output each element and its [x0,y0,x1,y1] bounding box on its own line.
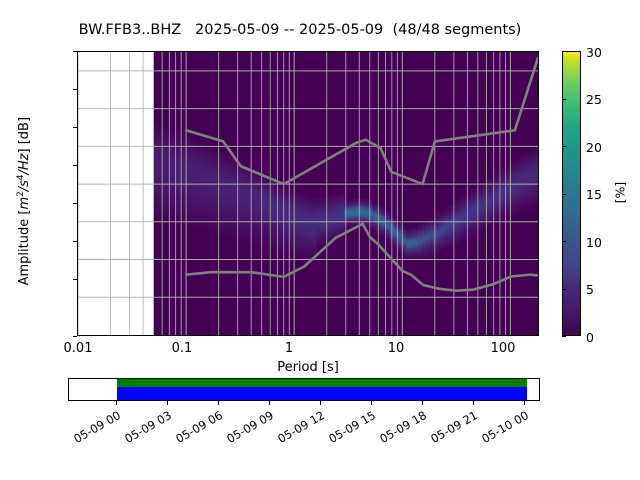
colorbar-tick-label: 5 [586,282,594,297]
timeline-tick-label: 05-09 12 [266,408,327,451]
timeline-tick-mark [422,401,423,405]
x-tick-label: 100 [473,341,533,356]
colorbar-tick-label: 30 [586,45,602,60]
data-coverage-timeline[interactable] [68,378,540,401]
y-tick-mark [73,336,77,337]
timeline-tick-mark [269,401,270,405]
colorbar-tick-label: 10 [586,235,602,250]
ppsd-plot-area[interactable] [77,51,539,336]
colorbar-tick-mark [562,289,566,290]
x-tick-label: 0.01 [48,341,108,356]
timeline-tick-label: 05-09 09 [215,408,276,451]
timeline-tick-mark [320,401,321,405]
timeline-data-bar [117,379,527,387]
ppsd-figure: { "chart_data": { "type": "heatmap", "ti… [0,0,640,480]
timeline-tick-label: 05-09 00 [62,408,123,451]
ppsd-histogram [78,52,538,335]
timeline-tick-label: 05-09 18 [368,408,429,451]
timeline-tick-mark [473,401,474,405]
colorbar-tick-label: 0 [586,330,594,345]
colorbar-tick-label: 25 [586,92,602,107]
colorbar-tick-label: 20 [586,140,602,155]
colorbar-tick-mark [562,336,566,337]
timeline-tick-mark [218,401,219,405]
colorbar-label: [%] [613,133,628,253]
colorbar-tick-mark [562,194,566,195]
colorbar-tick-mark [562,241,566,242]
timeline-tick-mark [371,401,372,405]
timeline-tick-label: 05-10 00 [470,408,531,451]
timeline-coverage-bar [117,387,527,401]
timeline-tick-label: 05-09 21 [419,408,480,451]
timeline-tick-mark [524,401,525,405]
timeline-tick-label: 05-09 06 [164,408,225,451]
colorbar-tick-mark [562,99,566,100]
colorbar-tick-label: 15 [586,187,602,202]
timeline-tick-label: 05-09 03 [113,408,174,451]
timeline-tick-label: 05-09 15 [317,408,378,451]
x-axis-label: Period [s] [77,360,539,375]
page-title: BW.FFB3..BHZ 2025-05-09 -- 2025-05-09 (4… [0,22,600,38]
x-tick-label: 10 [366,341,426,356]
x-tick-label: 0.1 [152,341,212,356]
colorbar-tick-mark [562,146,566,147]
y-axis-label: Amplitude [m2/s4/Hz] [dB] [16,91,32,311]
timeline-tick-mark [116,401,117,405]
x-tick-label: 1 [259,341,319,356]
colorbar-tick-mark [562,51,566,52]
timeline-tick-mark [167,401,168,405]
